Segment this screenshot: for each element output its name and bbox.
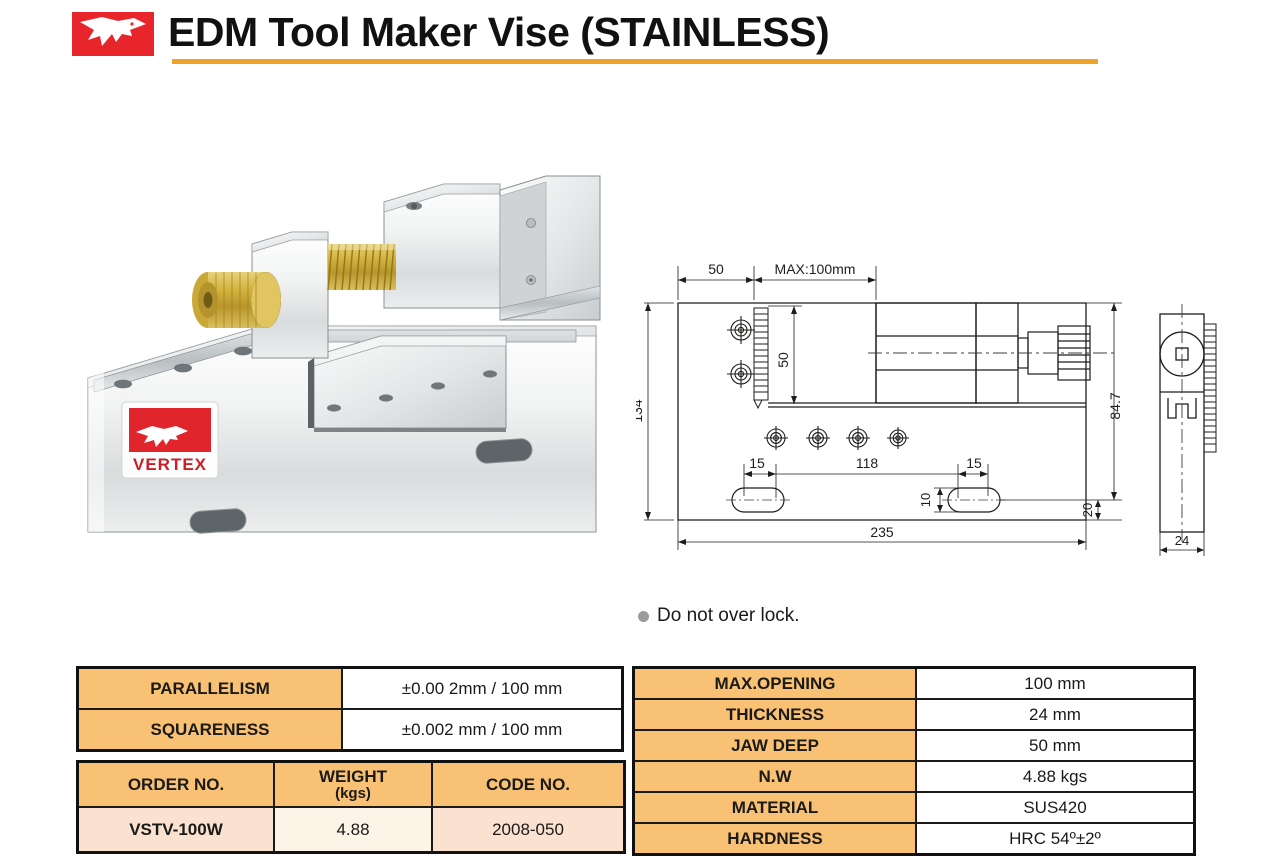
dim-slot-right: 15 bbox=[966, 455, 982, 471]
page-title: EDM Tool Maker Vise (STAINLESS) bbox=[168, 6, 1168, 58]
spec-value-parallelism: ±0.00 2mm / 100 mm bbox=[342, 668, 623, 710]
col-header-order-no: ORDER NO. bbox=[78, 762, 275, 808]
cell-code-no: 2008-050 bbox=[432, 807, 625, 853]
spec-label-hardness: HARDNESS bbox=[634, 823, 917, 855]
spec-value-hardness: HRC 54º±2º bbox=[916, 823, 1195, 855]
table-row: JAW DEEP 50 mm bbox=[634, 730, 1195, 761]
vertex-eagle-logo-icon bbox=[72, 12, 154, 56]
spec-label-jaw-deep: JAW DEEP bbox=[634, 730, 917, 761]
table-row: VSTV-100W 4.88 2008-050 bbox=[78, 807, 625, 853]
table-row: PARALLELISM ±0.00 2mm / 100 mm bbox=[78, 668, 623, 710]
dim-lower-height: 20 bbox=[1080, 503, 1095, 517]
table-header-row: ORDER NO. WEIGHT (kgs) CODE NO. bbox=[78, 762, 625, 808]
order-info-table: ORDER NO. WEIGHT (kgs) CODE NO. VSTV-100… bbox=[76, 760, 620, 854]
spec-label-material: MATERIAL bbox=[634, 792, 917, 823]
spec-value-thickness: 24 mm bbox=[916, 699, 1195, 730]
cell-weight: 4.88 bbox=[274, 807, 432, 853]
spec-value-jaw-deep: 50 mm bbox=[916, 730, 1195, 761]
technical-drawing-front-view: 50 MAX:100mm 50 bbox=[636, 248, 1136, 568]
table-row: SQUARENESS ±0.002 mm / 100 mm bbox=[78, 709, 623, 751]
product-photo: VERTEX bbox=[76, 140, 636, 560]
dim-slot-width: 10 bbox=[918, 493, 933, 507]
spec-label-squareness: SQUARENESS bbox=[78, 709, 343, 751]
bullet-dot-icon bbox=[638, 611, 649, 622]
dim-slot-left: 15 bbox=[749, 455, 765, 471]
warning-note-text: Do not over lock. bbox=[657, 605, 800, 627]
spec-label-thickness: THICKNESS bbox=[634, 699, 917, 730]
dim-slot-span: 118 bbox=[856, 455, 879, 471]
table-row: MAX.OPENING 100 mm bbox=[634, 668, 1195, 700]
cell-order-no: VSTV-100W bbox=[78, 807, 275, 853]
table-row: MATERIAL SUS420 bbox=[634, 792, 1195, 823]
table-row: THICKNESS 24 mm bbox=[634, 699, 1195, 730]
dim-50-top: 50 bbox=[708, 261, 724, 277]
table-row: N.W 4.88 kgs bbox=[634, 761, 1195, 792]
dim-max-opening: MAX:100mm bbox=[775, 261, 856, 277]
spec-value-material: SUS420 bbox=[916, 792, 1195, 823]
title-underline-rule bbox=[172, 59, 1098, 64]
dim-overall-length: 235 bbox=[870, 524, 894, 540]
product-spec-table: MAX.OPENING 100 mm THICKNESS 24 mm JAW D… bbox=[632, 666, 1192, 856]
dim-upper-height: 84.7 bbox=[1107, 392, 1123, 419]
table-row: HARDNESS HRC 54º±2º bbox=[634, 823, 1195, 855]
precision-spec-table: PARALLELISM ±0.00 2mm / 100 mm SQUARENES… bbox=[76, 666, 620, 752]
col-header-weight: WEIGHT (kgs) bbox=[274, 762, 432, 808]
spec-value-squareness: ±0.002 mm / 100 mm bbox=[342, 709, 623, 751]
page-header: EDM Tool Maker Vise (STAINLESS) bbox=[0, 0, 1274, 72]
dim-thickness: 24 bbox=[1175, 533, 1189, 548]
spec-value-nw: 4.88 kgs bbox=[916, 761, 1195, 792]
svg-text:VERTEX: VERTEX bbox=[133, 455, 207, 474]
warning-note: Do not over lock. bbox=[638, 602, 1058, 630]
spec-label-max-opening: MAX.OPENING bbox=[634, 668, 917, 700]
technical-drawing-side-view: 24 bbox=[1136, 292, 1256, 562]
dim-overall-height: 134 bbox=[636, 399, 645, 423]
spec-label-nw: N.W bbox=[634, 761, 917, 792]
dim-jaw-depth: 50 bbox=[775, 352, 791, 368]
col-header-code-no: CODE NO. bbox=[432, 762, 625, 808]
col-header-weight-unit: (kgs) bbox=[275, 786, 431, 802]
col-header-weight-main: WEIGHT bbox=[319, 767, 387, 786]
spec-label-parallelism: PARALLELISM bbox=[78, 668, 343, 710]
spec-value-max-opening: 100 mm bbox=[916, 668, 1195, 700]
